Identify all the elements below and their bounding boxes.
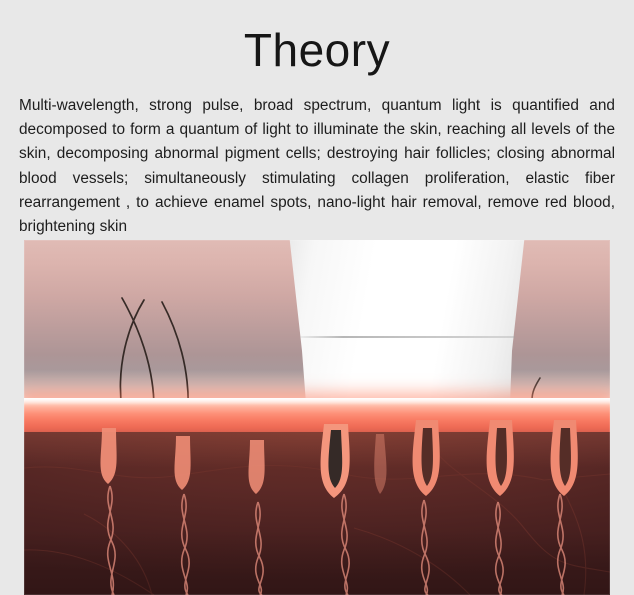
handpiece-body [282,240,532,420]
hair-strand-4 [532,378,540,400]
hair-strand-3 [162,302,188,412]
page-title: Theory [0,22,634,78]
dermis-tissue-veins [24,432,610,595]
ipl-handpiece-head [282,240,532,420]
theory-page: Theory Multi-wavelength, strong pulse, b… [0,0,634,595]
theory-description-paragraph: Multi-wavelength, strong pulse, broad sp… [19,94,615,239]
laser-light-band [24,398,610,434]
hair-strand-2 [122,298,154,408]
theory-illustration [24,240,610,595]
handpiece-seam-line [300,336,515,338]
dermis-cross-section [24,432,610,595]
theory-description-text: Multi-wavelength, strong pulse, broad sp… [19,97,615,235]
